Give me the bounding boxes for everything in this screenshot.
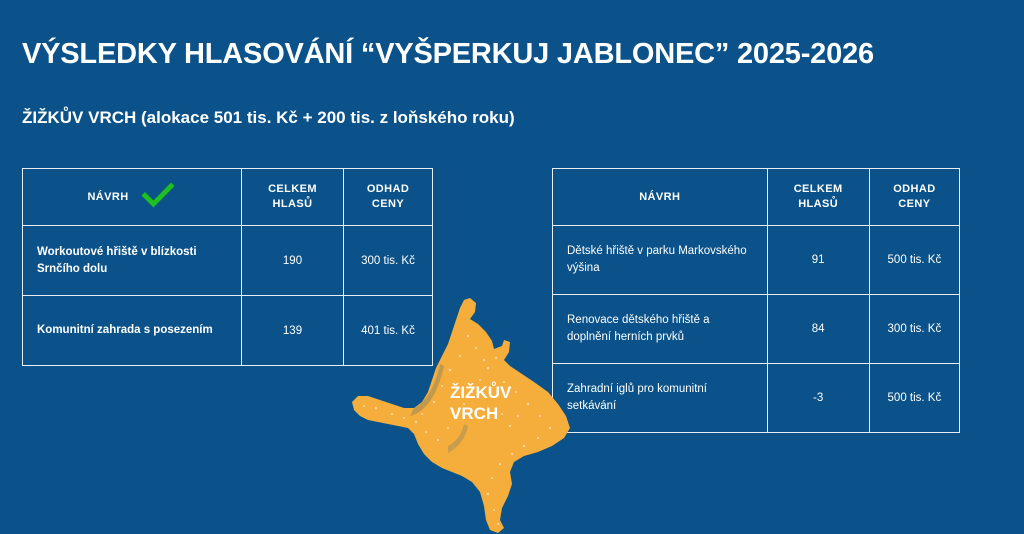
proposal-name: Dětské hřiště v parku Markovského výšina [553,226,768,295]
proposal-votes: 190 [242,226,344,296]
proposal-name: Zahradní iglů pro komunitní setkávání [553,364,768,433]
column-header-price-estimate: ODHAD CENY [344,169,433,226]
other-proposals-table: NÁVRH CELKEM HLASŮ ODHAD CENY Dětské hři… [552,168,960,433]
table-row: Zahradní iglů pro komunitní setkávání -3… [553,364,960,433]
proposal-price: 300 tis. Kč [869,295,959,364]
column-header-total-votes: CELKEM HLASŮ [767,169,869,226]
page-subtitle: ŽIŽKŮV VRCH (alokace 501 tis. Kč + 200 t… [22,108,515,128]
column-header-proposal: NÁVRH [553,169,768,226]
table-row: Komunitní zahrada s posezením 139 401 ti… [23,296,433,366]
table-header-row: NÁVRH CELKEM HLASŮ ODHAD CENY [553,169,960,226]
proposal-price: 500 tis. Kč [869,226,959,295]
map-district-label: ŽIŽKŮV VRCH [450,383,511,424]
proposal-price: 300 tis. Kč [344,226,433,296]
table-row: Workoutové hřiště v blízkosti Srnčího do… [23,226,433,296]
proposal-name: Komunitní zahrada s posezením [23,296,242,366]
proposal-votes: 84 [767,295,869,364]
proposal-name: Workoutové hřiště v blízkosti Srnčího do… [23,226,242,296]
column-header-price-estimate: ODHAD CENY [869,169,959,226]
winning-proposals-table: NÁVRH CELKEM HLASŮ ODHAD CENY Workoutové… [22,168,433,366]
page-title: VÝSLEDKY HLASOVÁNÍ “VYŠPERKUJ JABLONEC” … [22,38,874,71]
column-header-proposal: NÁVRH [23,169,242,226]
column-header-total-votes: CELKEM HLASŮ [242,169,344,226]
table-row: Dětské hřiště v parku Markovského výšina… [553,226,960,295]
green-check-icon [139,181,177,214]
proposal-votes: -3 [767,364,869,433]
table-row: Renovace dětského hřiště a doplnění hern… [553,295,960,364]
proposal-votes: 139 [242,296,344,366]
column-header-proposal-label: NÁVRH [87,190,128,205]
proposal-votes: 91 [767,226,869,295]
proposal-price: 401 tis. Kč [344,296,433,366]
table-header-row: NÁVRH CELKEM HLASŮ ODHAD CENY [23,169,433,226]
proposal-name: Renovace dětského hřiště a doplnění hern… [553,295,768,364]
proposal-price: 500 tis. Kč [869,364,959,433]
